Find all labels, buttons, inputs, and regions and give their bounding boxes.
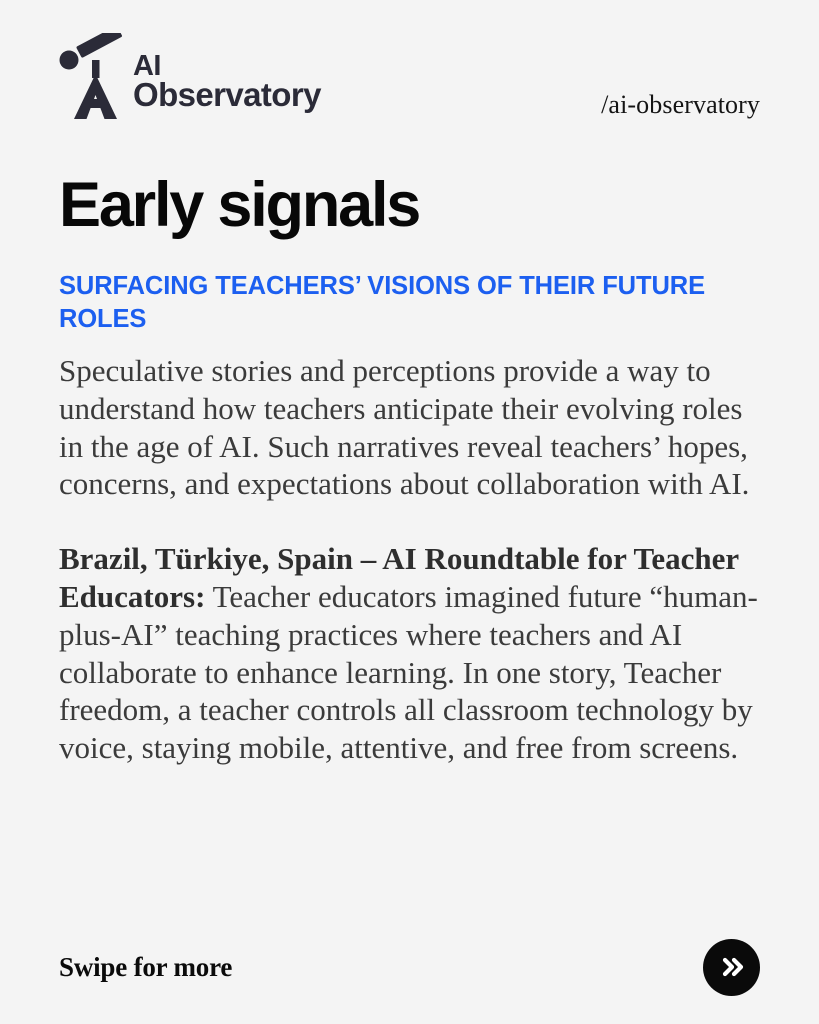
telescope-icon bbox=[59, 33, 131, 119]
footer: Swipe for more bbox=[59, 936, 760, 998]
brand-wordmark: AI Observatory bbox=[133, 53, 321, 111]
paragraph-1-text: Speculative stories and perceptions prov… bbox=[59, 353, 749, 501]
page-title: Early signals bbox=[59, 174, 419, 237]
account-handle: /ai-observatory bbox=[601, 90, 760, 120]
page-subtitle: Surfacing teachers’ visions of their fut… bbox=[59, 270, 709, 336]
paragraph-1: Speculative stories and perceptions prov… bbox=[59, 352, 771, 503]
swipe-hint-label: Swipe for more bbox=[59, 952, 232, 983]
header: AI Observatory /ai-observatory bbox=[59, 33, 760, 125]
brand-name-line2: Observatory bbox=[133, 80, 321, 111]
double-chevron-right-icon bbox=[717, 952, 747, 982]
next-slide-button[interactable] bbox=[703, 939, 760, 996]
body-copy: Speculative stories and perceptions prov… bbox=[59, 352, 771, 767]
slide-card: AI Observatory /ai-observatory Early sig… bbox=[0, 0, 819, 1024]
brand-lockup: AI Observatory bbox=[59, 33, 321, 119]
paragraph-2: Brazil, Türkiye, Spain – AI Roundtable f… bbox=[59, 540, 771, 767]
